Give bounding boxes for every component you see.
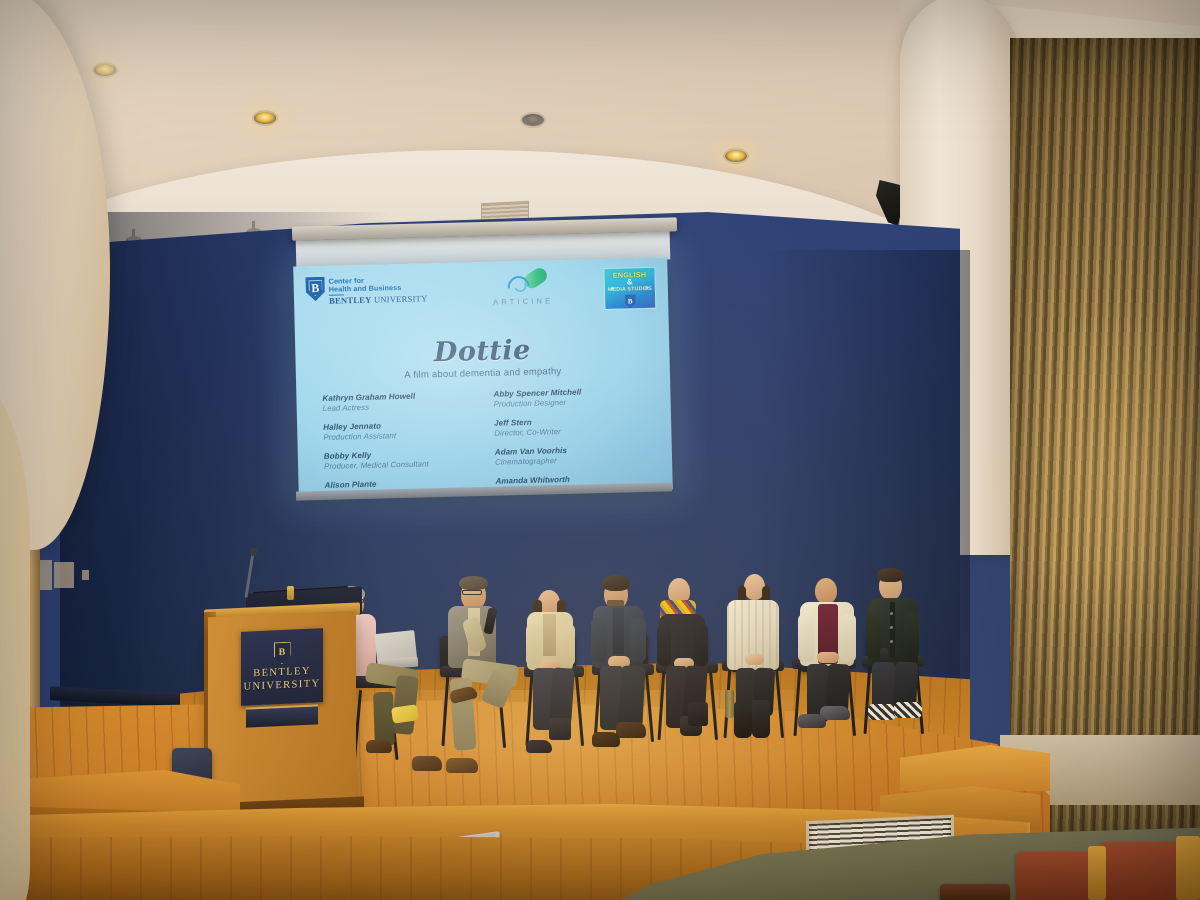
credit-item: Bobby Kelly Producer, Medical Consultant — [324, 448, 481, 470]
patterned-sneaker — [894, 702, 922, 718]
audience-seat[interactable] — [1016, 852, 1094, 900]
shoe — [592, 732, 620, 747]
credit-item: Adam Van Voorhis Cinematographer — [495, 444, 652, 466]
water-bottle[interactable] — [725, 690, 734, 718]
wall-panel — [38, 560, 52, 590]
arm — [694, 624, 708, 666]
sparkle-icon: ✦ — [610, 286, 615, 293]
arm — [591, 618, 607, 662]
audience-seat[interactable] — [940, 884, 1010, 900]
seat-armrest — [1088, 846, 1106, 900]
hair — [602, 575, 630, 591]
credit-item: Halley Jennato Production Assistant — [323, 419, 480, 441]
boot — [549, 718, 571, 740]
can-light-1-icon — [252, 110, 278, 126]
chb-line-2: Health and Business — [329, 283, 428, 293]
slide-logo-row: B Center for Health and Business BENTLEY… — [303, 267, 658, 316]
hands — [745, 654, 764, 665]
english-media-studies-logo: ✦ ✦ ENGLISH & MEDIA STUDIES B — [603, 267, 656, 310]
arm — [904, 612, 919, 658]
shoe — [616, 722, 646, 738]
auditorium-photo: B Center for Health and Business BENTLEY… — [0, 0, 1200, 900]
podium-shelf — [246, 704, 318, 727]
shoe — [366, 740, 392, 753]
credit-item: Kathryn Graham Howell Lead Actress — [322, 390, 479, 412]
shirt-placket — [613, 608, 624, 654]
can-light-4-icon — [92, 62, 118, 78]
wall-switch-plate[interactable] — [82, 570, 89, 580]
hair — [459, 576, 488, 590]
podium-bentley-shield-icon: B — [274, 642, 291, 665]
wood-slat-wall-glow — [1010, 300, 1200, 660]
boot — [688, 702, 708, 726]
shoe — [526, 740, 552, 753]
podium-shield-letter: B — [279, 646, 286, 657]
hands — [817, 652, 839, 663]
arm — [866, 612, 881, 658]
arm — [526, 624, 541, 666]
articine-logo: ARTICINE — [479, 269, 566, 307]
credits-column-left: Kathryn Graham Howell Lead Actress Halle… — [322, 390, 482, 498]
ems-shield-icon: B — [625, 295, 636, 309]
head — [815, 578, 837, 604]
wall-panel — [54, 562, 74, 588]
sneaker — [798, 714, 826, 728]
bentley-wordmark: Center for Health and Business BENTLEY U… — [328, 274, 427, 306]
articine-pill-icon — [479, 269, 566, 298]
seat-armrest — [1176, 836, 1200, 900]
podium-sign: B BENTLEY UNIVERSITY — [241, 628, 323, 706]
patterned-sneaker — [868, 704, 896, 720]
arm — [798, 614, 814, 662]
ems-shield-letter: B — [628, 297, 633, 305]
arm — [630, 618, 646, 662]
glasses-icon — [462, 590, 482, 595]
shirt-placket — [890, 602, 895, 658]
arm — [657, 624, 671, 666]
credit-item: Jeff Stern Director, Co-Writer — [494, 415, 651, 437]
podium-sign-line-2: UNIVERSITY — [244, 678, 321, 694]
tall-boot — [752, 700, 770, 738]
shoe — [412, 756, 442, 771]
leg — [618, 665, 645, 726]
arm — [560, 624, 575, 666]
arm — [840, 614, 856, 662]
button — [890, 640, 893, 643]
slide: B Center for Health and Business BENTLEY… — [293, 257, 673, 498]
podium-knob[interactable] — [287, 586, 294, 600]
button — [890, 612, 893, 615]
projection-screen: B Center for Health and Business BENTLEY… — [293, 257, 673, 498]
bentley-shield-icon: B — [305, 277, 325, 301]
bentley-university-wordmark: BENTLEY UNIVERSITY — [329, 295, 428, 307]
shoe — [446, 758, 478, 773]
bentley-chb-logo: B Center for Health and Business BENTLEY… — [305, 274, 427, 306]
credit-item: Abby Spencer Mitchell Production Designe… — [493, 386, 650, 408]
tall-boot — [734, 702, 752, 738]
sparkle-icon: ✦ — [645, 285, 650, 292]
credits-block: Kathryn Graham Howell Lead Actress Halle… — [322, 386, 653, 499]
can-light-3-icon — [520, 112, 546, 128]
bentley-shield-letter: B — [311, 282, 319, 294]
can-light-2-icon — [723, 148, 749, 164]
hair — [877, 568, 904, 582]
credits-column-right: Abby Spencer Mitchell Production Designe… — [493, 386, 653, 499]
bentley-word: BENTLEY — [329, 295, 372, 306]
university-word: UNIVERSITY — [371, 294, 427, 305]
audience-seat[interactable] — [1100, 842, 1180, 900]
blazer-lapel — [543, 614, 556, 656]
leg — [549, 667, 575, 724]
button — [890, 626, 893, 629]
